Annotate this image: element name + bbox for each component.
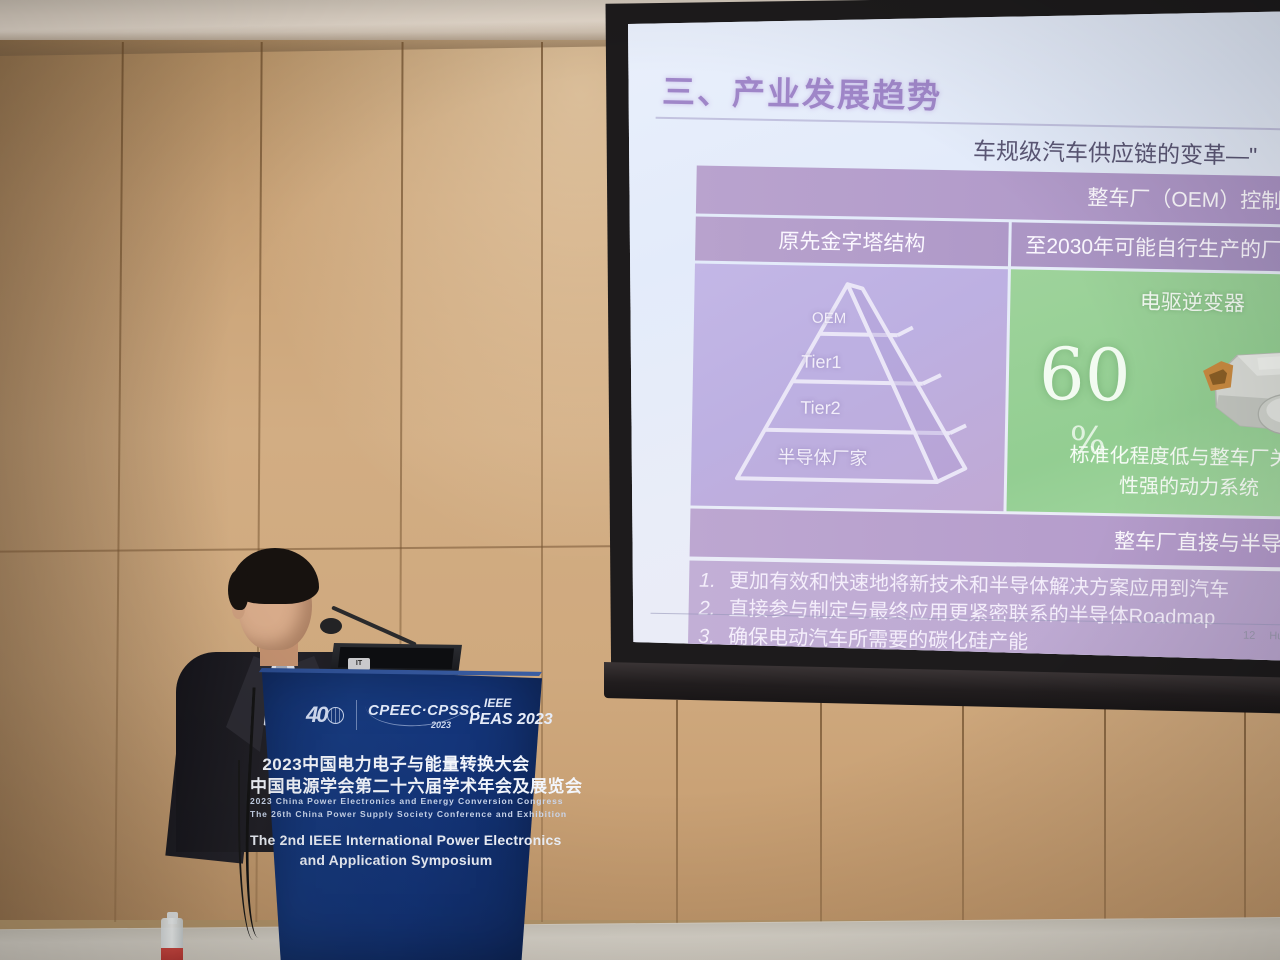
pyramid-level-oem: OEM xyxy=(812,310,846,328)
podium-title-en-2: The 26th China Power Supply Society Conf… xyxy=(250,809,542,819)
screen-surface: 三、产业发展趋势 车规级汽车供应链的变革—" 整车厂（OEM）控制的供应价 原先… xyxy=(622,8,1280,674)
ieee-logo-text: IEEE xyxy=(484,696,511,710)
globe-icon xyxy=(327,707,344,724)
anniversary-40-icon: 40 xyxy=(306,702,348,732)
slide-title: 三、产业发展趋势 xyxy=(662,65,943,118)
bottle-label xyxy=(161,948,183,960)
logo-divider xyxy=(356,700,357,730)
pyramid-icon xyxy=(699,272,1003,507)
podium-title-en-3: The 2nd IEEE International Power Electro… xyxy=(250,832,542,848)
slide-footer: 12Hunan Sanan Sem xyxy=(1243,630,1280,644)
list-item-number: 1. xyxy=(699,567,730,596)
green-panel-title: 电驱逆变器 xyxy=(1010,283,1280,320)
cpeec-logo-text: CPEEC·CPSSC xyxy=(368,702,481,719)
ev-inverter-icon xyxy=(1196,321,1280,455)
green-panel-number: 60 xyxy=(1038,332,1131,418)
cpeec-year: 2023 xyxy=(431,720,451,730)
wall-seam xyxy=(676,700,678,960)
table-header-right: 至2030年可能自行生产的厂 xyxy=(1011,222,1280,273)
table-body-row: OEM Tier1 Tier2 半导体厂家 电驱逆变器 60 % xyxy=(691,263,1280,517)
slide-page-number: 12 xyxy=(1243,630,1255,642)
green-stat-cell: 电驱逆变器 60 % xyxy=(1006,269,1280,518)
supply-chain-table: 整车厂（OEM）控制的供应价 原先金字塔结构 至2030年可能自行生产的厂 xyxy=(688,166,1280,673)
green-panel-caption-2: 性强的动力系统 xyxy=(1007,467,1280,503)
conference-room-photo: 三、产业发展趋势 车规级汽车供应链的变革—" 整车厂（OEM）控制的供应价 原先… xyxy=(0,0,1280,960)
projection-screen: 三、产业发展趋势 车规级汽车供应链的变革—" 整车厂（OEM）控制的供应价 原先… xyxy=(600,0,1280,724)
table-header-left: 原先金字塔结构 xyxy=(695,217,1009,267)
pyramid-diagram: OEM Tier1 Tier2 半导体厂家 xyxy=(699,272,1003,507)
table-top-banner: 整车厂（OEM）控制的供应价 xyxy=(696,166,1280,226)
water-bottle xyxy=(161,908,183,960)
slide-subtitle: 车规级汽车供应链的变革—" xyxy=(973,132,1258,171)
podium: 40 CPEEC·CPSSC 2023 IEEE PEAS 2023 2023中… xyxy=(250,668,542,960)
peas-logo-text: PEAS 2023 xyxy=(469,711,553,729)
presenter-hair-side xyxy=(228,570,248,610)
baseboard xyxy=(0,918,1280,960)
anniversary-number: 40 xyxy=(306,702,326,727)
table-bottom-banner: 整车厂直接与半导体厂家对 xyxy=(690,508,1280,568)
podium-title-en-1: 2023 China Power Electronics and Energy … xyxy=(250,796,542,806)
microphone-icon xyxy=(320,618,342,634)
pyramid-level-tier2: Tier2 xyxy=(800,397,841,419)
podium-logo-strip: 40 CPEEC·CPSSC 2023 IEEE PEAS 2023 xyxy=(306,696,520,736)
podium-title-en-4: and Application Symposium xyxy=(250,852,542,868)
microphone-stem xyxy=(331,605,417,646)
pyramid-level-tier1: Tier1 xyxy=(801,351,842,373)
podium-title-cn-2: 中国电源学会第二十六届学术年会及展览会 xyxy=(250,772,542,797)
slide-footer-org: Hunan Sanan Sem xyxy=(1269,630,1280,644)
list-item-number: 2. xyxy=(698,595,729,624)
presentation-slide: 三、产业发展趋势 车规级汽车供应链的变革—" 整车厂（OEM）控制的供应价 原先… xyxy=(622,8,1280,674)
pyramid-cell: OEM Tier1 Tier2 半导体厂家 xyxy=(691,263,1008,511)
pyramid-level-semiconductor: 半导体厂家 xyxy=(777,443,867,471)
